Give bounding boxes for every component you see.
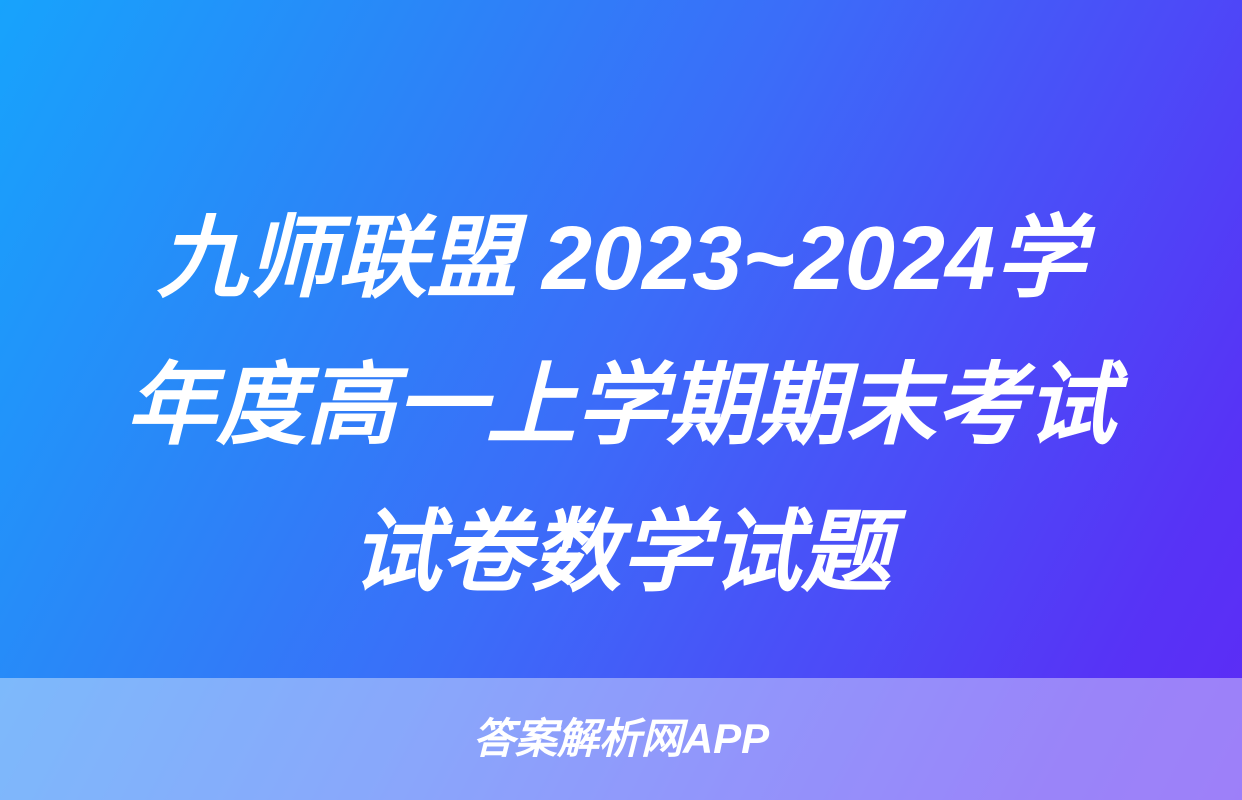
title-line-3: 试卷数学试题 bbox=[24, 480, 1218, 627]
title-line-1: 九师联盟 2023~2024学 bbox=[24, 186, 1218, 333]
app-name-label: 答案解析网APP bbox=[473, 718, 769, 760]
exam-title-banner: 九师联盟 2023~2024学 年度高一上学期期末考试 试卷数学试题 答案解析网… bbox=[0, 0, 1242, 800]
title-line-2: 年度高一上学期期末考试 bbox=[24, 333, 1218, 480]
page-title: 九师联盟 2023~2024学 年度高一上学期期末考试 试卷数学试题 bbox=[0, 186, 1242, 627]
app-footer-band: 答案解析网APP bbox=[0, 678, 1242, 800]
